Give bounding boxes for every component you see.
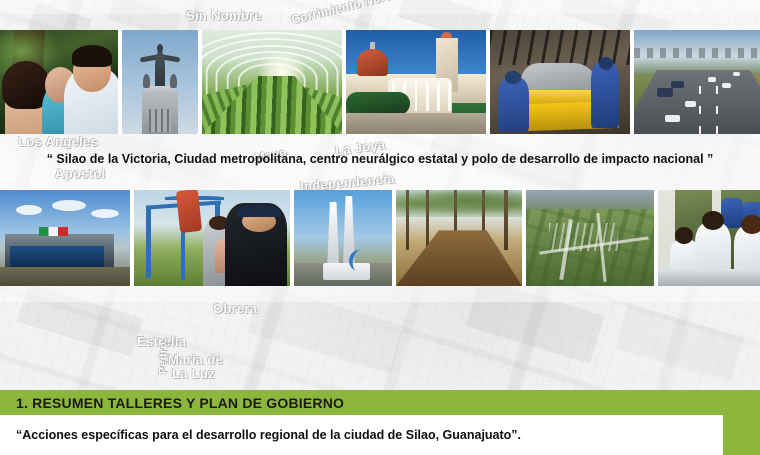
map-block xyxy=(616,304,744,381)
map-haze-band xyxy=(0,286,760,302)
photo-modern-building xyxy=(0,190,130,286)
map-street-label: Pedro xyxy=(157,342,169,375)
map-block xyxy=(247,290,403,374)
photo-family-photo xyxy=(0,30,118,134)
photo-cristo-rey-statue xyxy=(122,30,198,134)
photo-playground-police xyxy=(134,190,290,286)
map-street-label: Maria de xyxy=(168,352,223,367)
map-street-label: La Luz xyxy=(172,366,215,381)
map-street-label: Obrera xyxy=(213,301,257,316)
photo-greenhouse-agriculture xyxy=(202,30,342,134)
photo-strip-bottom xyxy=(0,190,760,286)
photo-monument-plaza xyxy=(294,190,392,286)
slide-subtitle: “Acciones específicas para el desarrollo… xyxy=(16,428,521,442)
section-title-text: 1. RESUMEN TALLERES Y PLAN DE GOBIERNO xyxy=(16,395,344,411)
slide-quote: “ Silao de la Victoria, Ciudad metropoli… xyxy=(0,150,760,168)
map-street-label: Apostol xyxy=(55,166,105,181)
map-street-label: Sin Nombre xyxy=(186,8,262,23)
photo-strip-top xyxy=(0,30,760,134)
photo-church-plaza xyxy=(346,30,486,134)
photo-dirt-path-park xyxy=(396,190,522,286)
photo-laboratory-students xyxy=(658,190,760,286)
photo-highway-aerial xyxy=(634,30,760,134)
slide-root: Sin NombreCorrimiento NorteLos AngelesMa… xyxy=(0,0,760,455)
accent-block-right xyxy=(723,415,760,455)
photo-auto-assembly-plant xyxy=(490,30,630,134)
photo-aerial-valley xyxy=(526,190,654,286)
section-title-bar: 1. RESUMEN TALLERES Y PLAN DE GOBIERNO xyxy=(0,390,760,415)
map-street-label: Los Angeles xyxy=(18,134,98,149)
